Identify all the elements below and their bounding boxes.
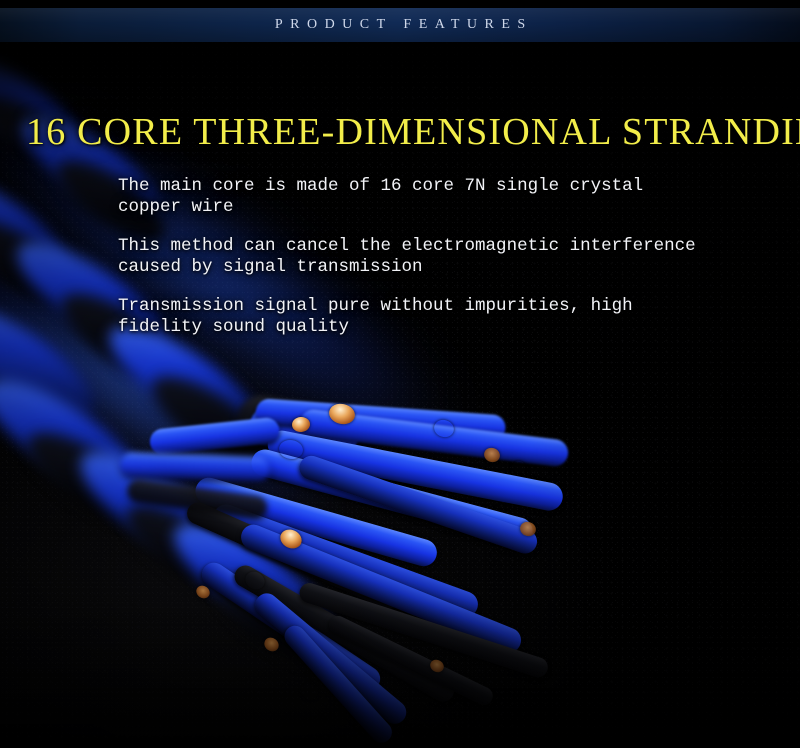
feature-item: Transmission signal pure without impurit… bbox=[118, 296, 800, 338]
product-features-header: PRODUCT FEATURES bbox=[0, 8, 800, 42]
product-feature-banner: PRODUCT FEATURES 16 CORE THREE-DIMENSION… bbox=[0, 0, 800, 748]
header-title: PRODUCT FEATURES bbox=[267, 17, 532, 33]
feature-list: The main core is made of 16 core 7N sing… bbox=[118, 176, 800, 338]
wire-strand bbox=[120, 452, 271, 482]
feature-item: The main core is made of 16 core 7N sing… bbox=[118, 176, 800, 218]
feature-item: This method can cancel the electromagnet… bbox=[118, 236, 800, 278]
page-title: 16 CORE THREE-DIMENSIONAL STRANDING bbox=[26, 113, 800, 151]
